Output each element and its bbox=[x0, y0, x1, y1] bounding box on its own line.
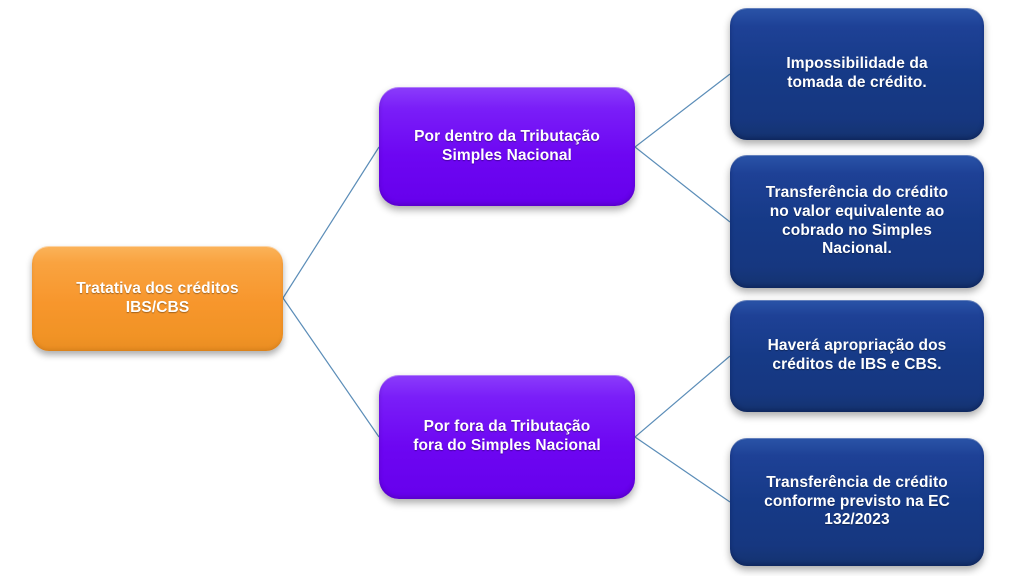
connector-root-to-branch-1 bbox=[283, 147, 379, 298]
node-branch-por-dentro[interactable]: Por dentro da Tributação Simples Naciona… bbox=[379, 87, 635, 206]
connector-branch-2-to-leaf-4 bbox=[635, 437, 730, 502]
node-root-tratativa-creditos[interactable]: Tratativa dos créditos IBS/CBS bbox=[32, 246, 283, 351]
node-leaf-transferencia-valor-equivalente[interactable]: Transferência do crédito no valor equiva… bbox=[730, 155, 984, 288]
connector-branch-1-to-leaf-1 bbox=[635, 74, 730, 147]
node-leaf-1-label: Impossibilidade da tomada de crédito. bbox=[776, 55, 937, 93]
node-leaf-apropriacao-creditos[interactable]: Haverá apropriação dos créditos de IBS e… bbox=[730, 300, 984, 412]
node-leaf-3-label: Haverá apropriação dos créditos de IBS e… bbox=[758, 337, 957, 375]
node-leaf-2-label: Transferência do crédito no valor equiva… bbox=[756, 184, 958, 260]
node-leaf-transferencia-ec-132[interactable]: Transferência de crédito conforme previs… bbox=[730, 438, 984, 566]
connector-branch-1-to-leaf-2 bbox=[635, 147, 730, 222]
connector-root-to-branch-2 bbox=[283, 298, 379, 437]
node-branch-por-fora[interactable]: Por fora da Tributação fora do Simples N… bbox=[379, 375, 635, 499]
diagram-canvas: Tratativa dos créditos IBS/CBS Por dentr… bbox=[0, 0, 1024, 576]
node-branch-1-label: Por dentro da Tributação Simples Naciona… bbox=[404, 128, 610, 166]
node-leaf-4-label: Transferência de crédito conforme previs… bbox=[754, 474, 960, 531]
node-root-label: Tratativa dos créditos IBS/CBS bbox=[66, 280, 248, 318]
connector-branch-2-to-leaf-3 bbox=[635, 356, 730, 437]
node-branch-2-label: Por fora da Tributação fora do Simples N… bbox=[403, 418, 611, 456]
node-leaf-impossibilidade-credito[interactable]: Impossibilidade da tomada de crédito. bbox=[730, 8, 984, 140]
